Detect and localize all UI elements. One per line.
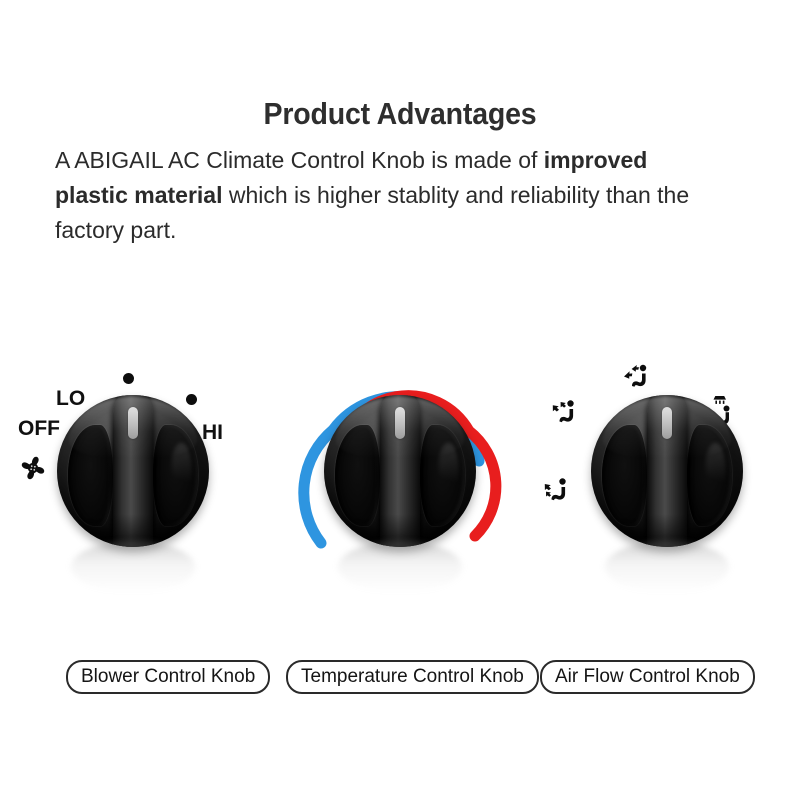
knob-sheen [603, 397, 731, 461]
knob-sheen [69, 397, 197, 461]
knob-sheen [336, 397, 464, 461]
airflow-face-icon [551, 399, 583, 425]
knob-gallery: OFF LO HI [0, 355, 800, 585]
knob-item-airflow [534, 355, 800, 585]
airflow-knob[interactable] [591, 395, 743, 547]
knob-item-blower: OFF LO HI [0, 355, 266, 585]
airflow-face-up-icon [622, 363, 656, 389]
caption-air-flow-control-knob: Air Flow Control Knob [540, 660, 755, 694]
knob-item-temperature [267, 355, 533, 585]
knob-captions: Blower Control Knob Temperature Control … [0, 660, 800, 702]
knob-body[interactable] [591, 395, 743, 547]
marking-off-label: OFF [18, 418, 60, 439]
blower-knob[interactable] [57, 395, 209, 547]
airflow-floor-icon [543, 477, 575, 503]
caption-temperature-control-knob: Temperature Control Knob [286, 660, 539, 694]
knob-reflection [338, 541, 462, 593]
knob-reflection [605, 541, 729, 593]
product-advantages-page: Product Advantages A ABIGAIL AC Climate … [0, 0, 800, 800]
knob-body[interactable] [324, 395, 476, 547]
product-description: A ABIGAIL AC Climate Control Knob is mad… [55, 143, 705, 248]
knob-body[interactable] [57, 395, 209, 547]
page-title: Product Advantages [32, 96, 768, 132]
knob-reflection [71, 541, 195, 593]
temperature-knob[interactable] [324, 395, 476, 547]
marking-dot-1 [123, 373, 134, 384]
body-text: A ABIGAIL AC Climate Control Knob is mad… [55, 147, 544, 173]
fan-icon [16, 451, 50, 485]
caption-blower-control-knob: Blower Control Knob [66, 660, 270, 694]
